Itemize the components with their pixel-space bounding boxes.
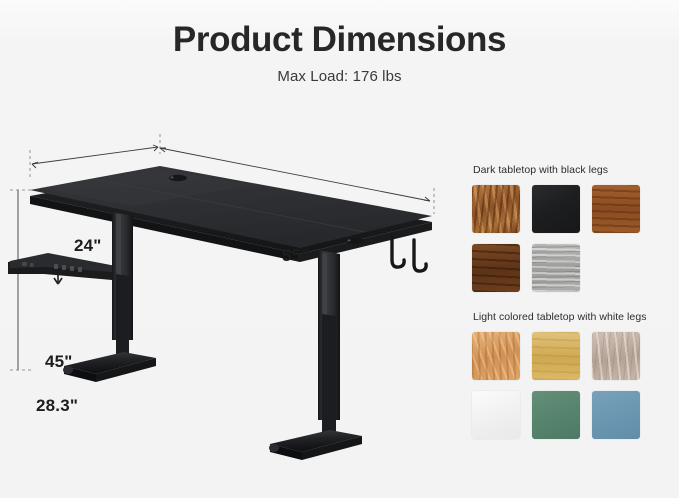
cable-grommet-left — [169, 175, 187, 181]
header: Product Dimensions Max Load: 176 lbs — [0, 22, 679, 85]
height-max-label: 45" — [45, 352, 73, 372]
swatch-steel-blue[interactable] — [592, 391, 640, 439]
swatch-rustic-brown-wood[interactable] — [472, 185, 520, 233]
swatch-medium-walnut-wood[interactable] — [592, 185, 640, 233]
swatch-white[interactable] — [472, 391, 520, 439]
dark-finish-panel: Dark tabletop with black legs — [472, 164, 672, 292]
infographic-root: Product Dimensions Max Load: 176 lbs — [0, 0, 679, 498]
light-finish-panel: Light colored tabletop with white legs — [472, 311, 672, 439]
depth-label: 24" — [74, 236, 102, 256]
light-swatch-grid — [472, 332, 672, 439]
swatch-gray-wood[interactable] — [532, 244, 580, 292]
cable-grommet-right — [346, 238, 364, 244]
headphone-hooks — [392, 236, 426, 271]
max-load-subtitle: Max Load: 176 lbs — [0, 68, 679, 85]
desk-leg-right — [269, 250, 362, 460]
swatch-bamboo-yellow[interactable] — [532, 332, 580, 380]
height-min-label: 28.3" — [36, 396, 78, 416]
swatch-sage-green[interactable] — [532, 391, 580, 439]
swatch-black[interactable] — [532, 185, 580, 233]
swatch-light-gray-marble[interactable] — [592, 332, 640, 380]
swatch-dark-walnut-wood[interactable] — [472, 244, 520, 292]
swatch-light-rustic-oak[interactable] — [472, 332, 520, 380]
keypad-controller[interactable] — [8, 253, 118, 280]
desk-illustration: 24" 55" 45" 28.3" — [0, 104, 462, 498]
page-title: Product Dimensions — [0, 22, 679, 59]
dark-swatch-grid — [472, 185, 672, 292]
width-label: 55" — [282, 246, 310, 266]
light-panel-label: Light colored tabletop with white legs — [473, 311, 672, 323]
dark-panel-label: Dark tabletop with black legs — [473, 164, 672, 176]
